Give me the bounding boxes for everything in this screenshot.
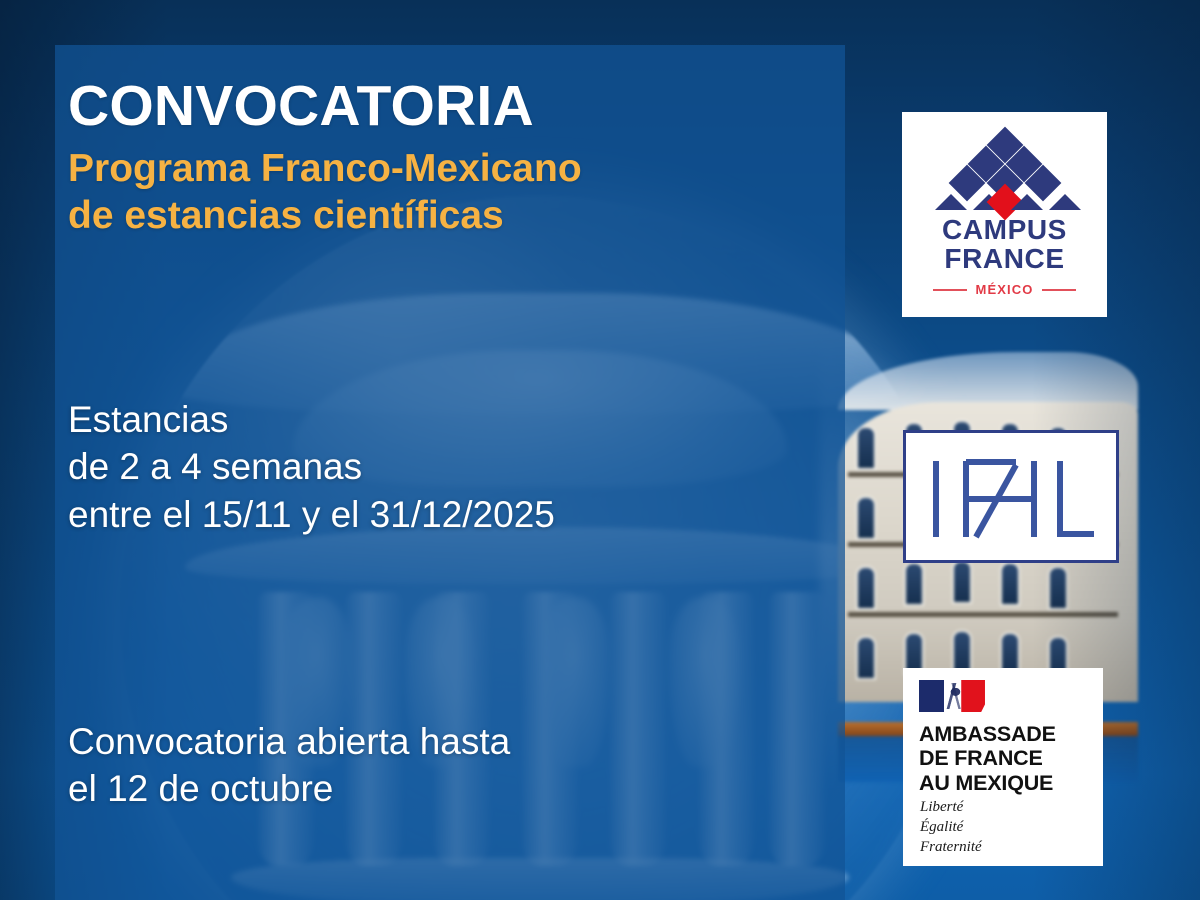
page-title: CONVOCATORIA	[68, 76, 828, 136]
deadline-line-1: Convocatoria abierta hasta	[68, 718, 828, 765]
motto-liberte: Liberté	[920, 798, 982, 818]
motto-egalite: Égalité	[920, 818, 982, 838]
ifal-wordmark-icon	[930, 459, 1096, 539]
rule-right-icon	[1042, 289, 1076, 291]
campus-france-country-row: MÉXICO	[902, 282, 1107, 297]
stay-line-1: Estancias	[68, 396, 828, 443]
campus-france-wordmark: CAMPUS FRANCE	[902, 216, 1107, 273]
stay-line-3: entre el 15/11 y el 31/12/2025	[68, 491, 828, 538]
campus-france-pyramid-icon	[929, 132, 1081, 210]
poster-canvas: CONVOCATORIA Programa Franco-Mexicano de…	[0, 0, 1200, 900]
ambassade-wordmark: AMBASSADE DE FRANCE AU MEXIQUE	[919, 722, 1093, 795]
subtitle-line-1: Programa Franco-Mexicano	[68, 146, 828, 193]
headline-block: CONVOCATORIA Programa Franco-Mexicano de…	[68, 76, 828, 240]
motto-fraternite: Fraternité	[920, 838, 982, 858]
stay-details-block: Estancias de 2 a 4 semanas entre el 15/1…	[68, 396, 828, 538]
rule-left-icon	[933, 289, 967, 291]
ambassade-line-3: AU MEXIQUE	[919, 771, 1093, 795]
deadline-line-2: el 12 de octubre	[68, 765, 828, 812]
republic-motto: Liberté Égalité Fraternité	[920, 798, 982, 857]
deadline-block: Convocatoria abierta hasta el 12 de octu…	[68, 718, 828, 813]
ambassade-de-france-logo: AMBASSADE DE FRANCE AU MEXIQUE Liberté É…	[903, 668, 1103, 866]
campus-france-line-1: CAMPUS	[902, 216, 1107, 245]
flag-white-band	[944, 680, 961, 712]
ambassade-line-1: AMBASSADE	[919, 722, 1093, 746]
ambassade-line-2: DE FRANCE	[919, 746, 1093, 770]
campus-france-logo: CAMPUS FRANCE MÉXICO	[902, 112, 1107, 317]
subtitle-line-2: de estancias científicas	[68, 193, 828, 240]
stay-line-2: de 2 a 4 semanas	[68, 443, 828, 490]
flag-red-band	[961, 680, 985, 712]
ifal-logo	[903, 430, 1119, 563]
campus-france-line-2: FRANCE	[902, 245, 1107, 274]
campus-france-country: MÉXICO	[976, 282, 1034, 297]
french-flag-marianne-icon	[919, 680, 985, 712]
